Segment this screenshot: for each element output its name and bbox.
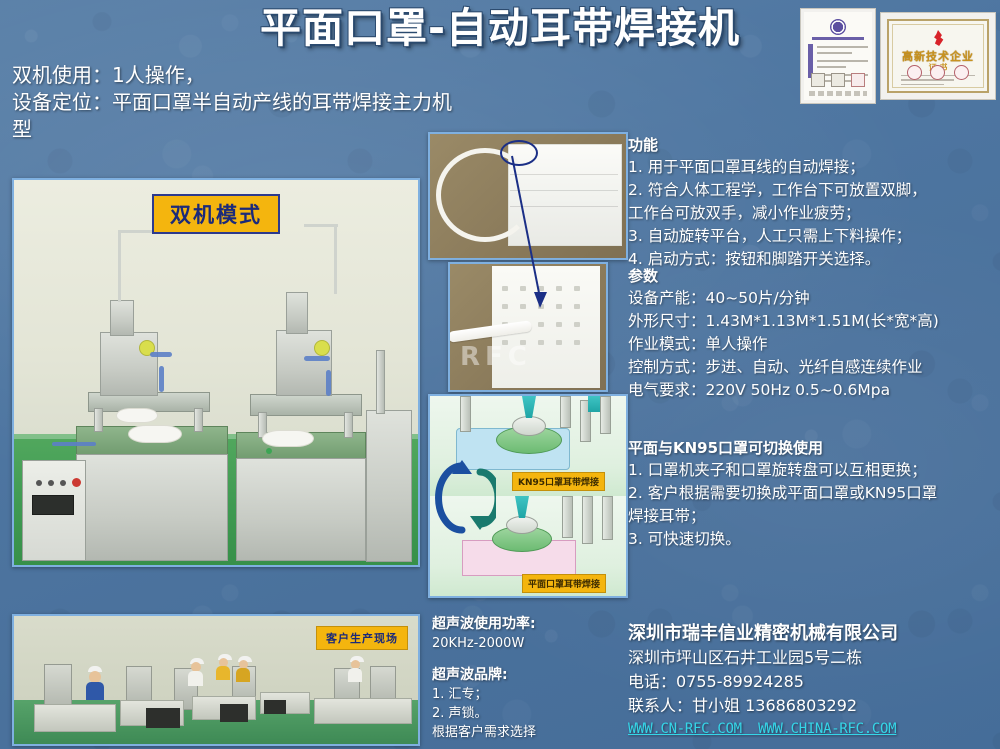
functions-heading: 功能	[628, 134, 996, 156]
ultrasonic-brand-item: 1. 汇专；	[432, 685, 622, 704]
functions-item: 工作台可放双手，减小作业疲劳；	[628, 202, 996, 225]
switchable-item: 焊接耳带；	[628, 505, 996, 528]
subtitle-line-2: 设备定位：平面口罩半自动产线的耳带焊接主力机型	[12, 89, 452, 143]
switchable-item: 3. 可快速切换。	[628, 528, 996, 551]
parameter-value: 步进、自动、光纤自感连续作业	[706, 358, 923, 376]
website-link-cn-rfc[interactable]: WWW.CN-RFC.COM	[628, 721, 742, 737]
functions-item: 3. 自动旋转平台，人工只需上下料操作；	[628, 225, 996, 248]
switchable-item: 2. 客户根据需要切换成平面口罩或KN95口罩	[628, 482, 996, 505]
parameter-value: 单人操作	[706, 335, 768, 353]
parameter-value: 40~50片/分钟	[706, 289, 810, 307]
parameter-row: 作业模式：单人操作	[628, 333, 1000, 356]
rotation-arrows-icon	[432, 458, 496, 542]
cad-badge-kn95: KN95口罩耳带焊接	[512, 472, 605, 491]
ultrasonic-power-heading: 超声波使用功率:	[432, 614, 622, 634]
ultrasonic-brand-item: 2. 声锁。	[432, 704, 622, 723]
parameters-block: 参数 设备产能：40~50片/分钟 外形尺寸：1.43M*1.13M*1.51M…	[628, 265, 1000, 402]
poster-canvas: 平面口罩-自动耳带焊接机 高新技术企业 证 书	[0, 0, 1000, 749]
company-info-block: 深圳市瑞丰信业精密机械有限公司 深圳市坪山区石井工业园5号二栋 电话：0755-…	[628, 621, 998, 740]
switchable-block: 平面与KN95口罩可切换使用 1. 口罩机夹子和口罩旋转盘可以互相更换； 2. …	[628, 437, 996, 551]
company-websites: WWW.CN-RFC.COM WWW.CHINA-RFC.COM	[628, 718, 998, 740]
parameter-row: 控制方式：步进、自动、光纤自感连续作业	[628, 356, 1000, 379]
parameter-value: 220V 50Hz 0.5~0.6Mpa	[706, 381, 891, 399]
certificate-iso-body	[804, 12, 872, 100]
callout-ellipse-weldpoint	[500, 140, 538, 166]
website-link-china-rfc[interactable]: WWW.CHINA-RFC.COM	[758, 721, 896, 737]
mask-earloop-photo	[428, 132, 628, 260]
subtitle-line-1: 双机使用：1人操作，	[12, 62, 452, 89]
parameter-value: 1.43M*1.13M*1.51M(长*宽*高)	[706, 312, 939, 330]
mask-weldpoint-closeup-photo: RFC	[448, 262, 608, 392]
company-address: 深圳市坪山区石井工业园5号二栋	[628, 646, 998, 670]
switchable-item: 1. 口罩机夹子和口罩旋转盘可以互相更换；	[628, 459, 996, 482]
ultrasonic-brand-heading: 超声波品牌:	[432, 665, 622, 685]
parameter-row: 电气要求：220V 50Hz 0.5~0.6Mpa	[628, 379, 1000, 402]
ultrasonic-power-value: 20KHz-2000W	[432, 634, 622, 653]
company-name: 深圳市瑞丰信业精密机械有限公司	[628, 621, 998, 646]
flame-icon	[931, 30, 945, 46]
parameter-row: 外形尺寸：1.43M*1.13M*1.51M(长*宽*高)	[628, 310, 1000, 333]
certificate-seal-row	[811, 73, 865, 87]
certificate-iso-image	[800, 8, 876, 104]
certificate-header-bar	[812, 37, 864, 40]
functions-item: 1. 用于平面口罩耳线的自动焊接；	[628, 156, 996, 179]
factory-site-photo: 客户生产现场	[12, 614, 420, 746]
certification-seal-icon	[830, 19, 846, 35]
parameter-label: 控制方式：	[628, 358, 706, 376]
watermark-rfc: RFC	[460, 342, 532, 372]
cad-switchable-diagram: KN95口罩耳带焊接 平面口罩耳带焊接	[428, 394, 628, 598]
certificate-footer-text	[809, 91, 867, 96]
photo-badge-dual-mode: 双机模式	[152, 194, 280, 234]
subtitle-block: 双机使用：1人操作， 设备定位：平面口罩半自动产线的耳带焊接主力机型	[12, 62, 452, 143]
ultrasonic-brand-item: 根据客户需求选择	[432, 723, 622, 742]
ultrasonic-block: 超声波使用功率: 20KHz-2000W 超声波品牌: 1. 汇专； 2. 声锁…	[432, 614, 622, 742]
company-phone: 电话：0755-89924285	[628, 670, 998, 694]
certificate-hightech-image: 高新技术企业 证 书	[880, 12, 996, 100]
photo-badge-customer-site: 客户生产现场	[316, 626, 408, 650]
page-title: 平面口罩-自动耳带焊接机	[210, 2, 790, 56]
parameter-label: 作业模式：	[628, 335, 706, 353]
company-contact: 联系人：甘小姐 13686803292	[628, 694, 998, 718]
functions-block: 功能 1. 用于平面口罩耳线的自动焊接； 2. 符合人体工程学，工作台下可放置双…	[628, 134, 996, 271]
parameter-label: 设备产能：	[628, 289, 706, 307]
parameters-heading: 参数	[628, 265, 1000, 287]
parameter-label: 电气要求：	[628, 381, 706, 399]
certificate-stamp-row	[903, 65, 973, 80]
parameter-row: 设备产能：40~50片/分钟	[628, 287, 1000, 310]
parameter-label: 外形尺寸：	[628, 312, 706, 330]
cad-badge-flat: 平面口罩耳带焊接	[522, 574, 606, 593]
switchable-heading: 平面与KN95口罩可切换使用	[628, 437, 996, 459]
functions-item: 2. 符合人体工程学，工作台下可放置双脚，	[628, 179, 996, 202]
certificate-hightech-frame: 高新技术企业 证 书	[887, 19, 989, 93]
machine-photo-dual-mode: 双机模式	[12, 178, 420, 567]
